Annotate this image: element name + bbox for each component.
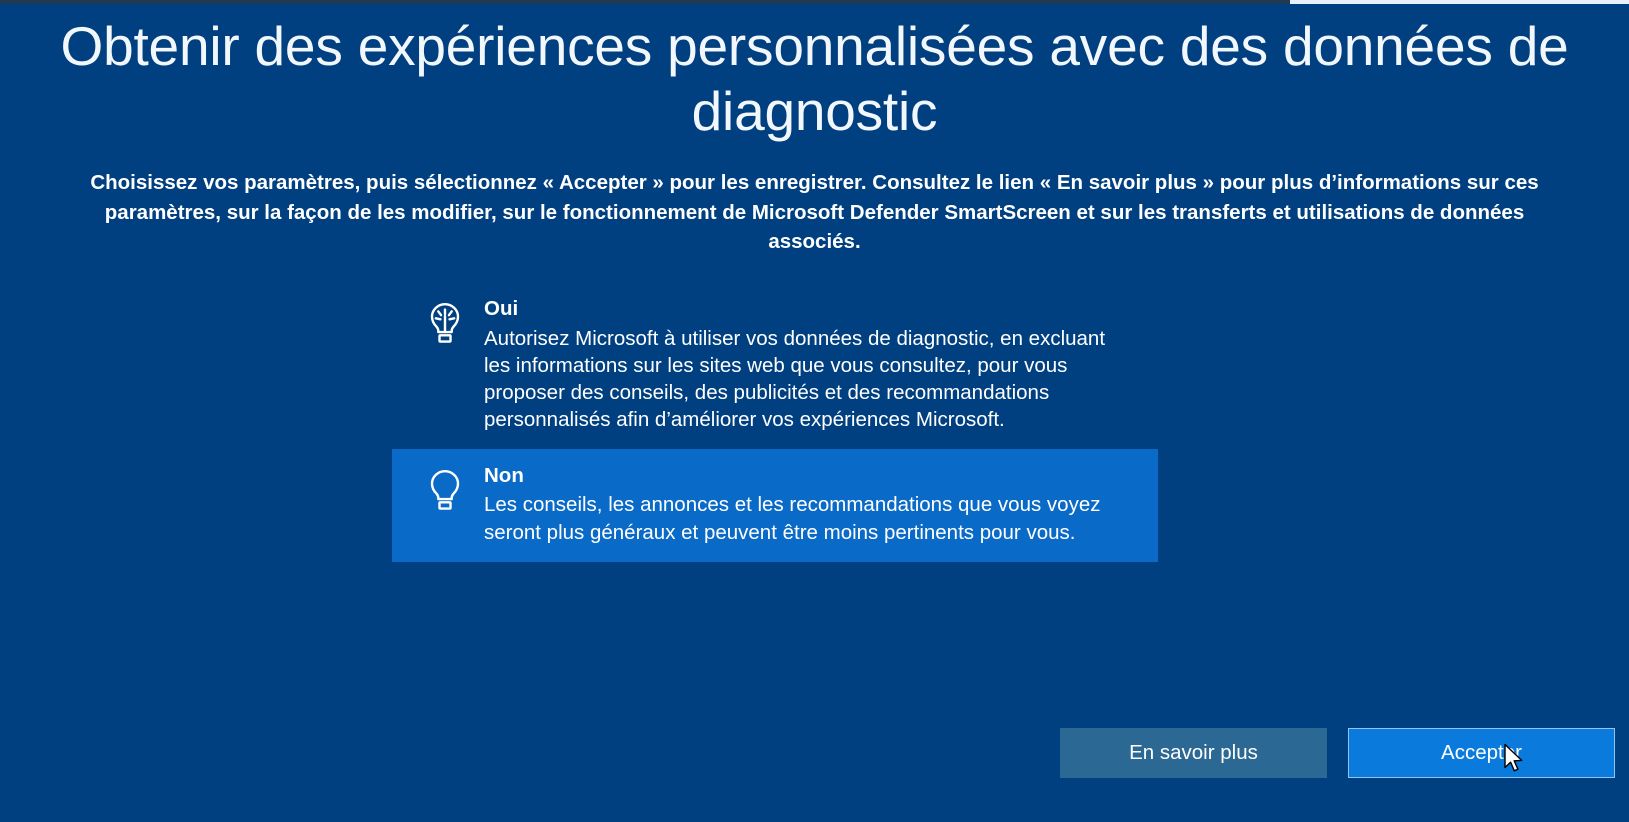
- diagnostic-options-list: Oui Autorisez Microsoft à utiliser vos d…: [392, 282, 1158, 562]
- lightbulb-on-icon: [406, 296, 484, 346]
- page-title: Obtenir des expériences personnalisées a…: [0, 4, 1629, 144]
- lightbulb-off-icon: [406, 463, 484, 513]
- oobe-privacy-settings-screen: Obtenir des expériences personnalisées a…: [0, 0, 1629, 822]
- option-non-body: Non Les conseils, les annonces et les re…: [484, 463, 1144, 546]
- option-oui[interactable]: Oui Autorisez Microsoft à utiliser vos d…: [392, 282, 1158, 449]
- footer-actions: En savoir plus Accepter: [0, 728, 1629, 822]
- accept-button[interactable]: Accepter: [1348, 728, 1615, 778]
- option-non-title: Non: [484, 463, 1134, 490]
- option-non[interactable]: Non Les conseils, les annonces et les re…: [392, 449, 1158, 562]
- learn-more-button[interactable]: En savoir plus: [1060, 728, 1327, 778]
- option-oui-body: Oui Autorisez Microsoft à utiliser vos d…: [484, 296, 1144, 433]
- option-non-description: Les conseils, les annonces et les recomm…: [484, 491, 1134, 545]
- page-subtitle: Choisissez vos paramètres, puis sélectio…: [0, 144, 1629, 257]
- button-row: En savoir plus Accepter: [1060, 728, 1615, 778]
- page-header: Obtenir des expériences personnalisées a…: [0, 4, 1629, 257]
- option-oui-description: Autorisez Microsoft à utiliser vos donné…: [484, 325, 1134, 433]
- option-oui-title: Oui: [484, 296, 1134, 323]
